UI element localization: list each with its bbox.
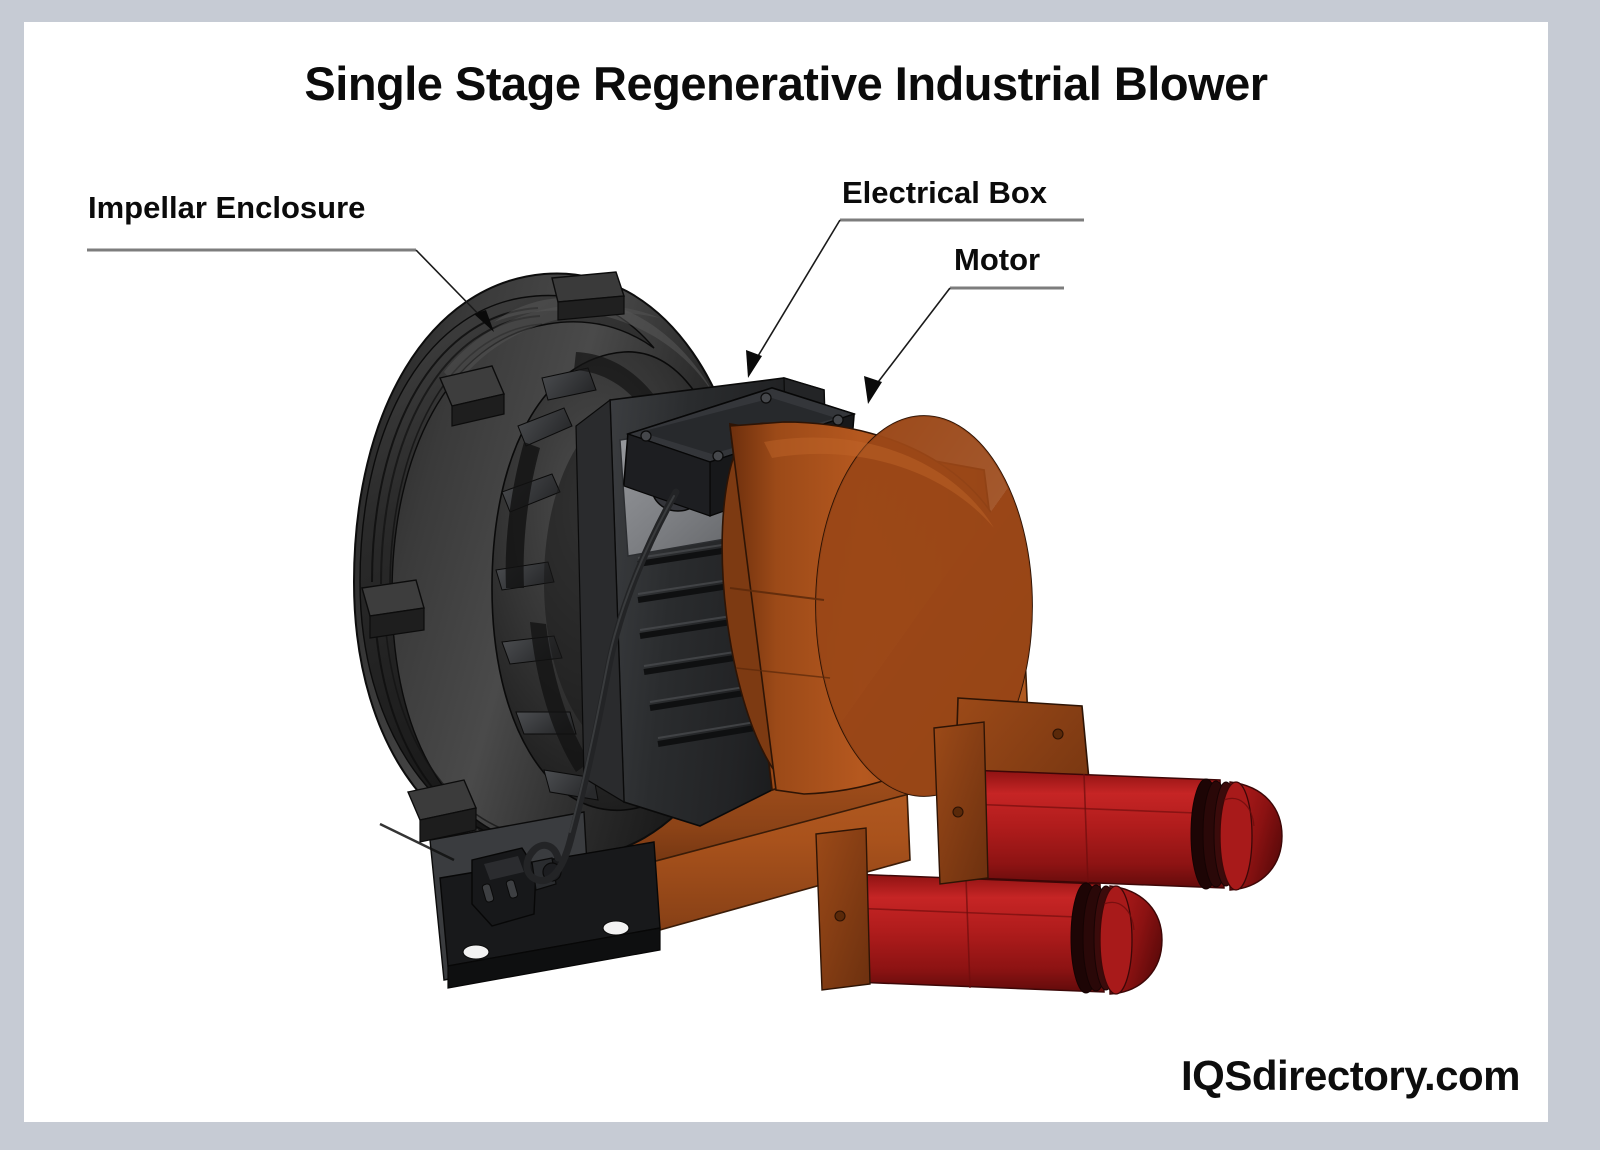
blower-illustration (24, 22, 1548, 1122)
figure-panel: Single Stage Regenerative Industrial Blo… (24, 22, 1548, 1122)
pipe-flange (816, 828, 870, 990)
callout-label-impeller-enclosure: Impellar Enclosure (88, 192, 365, 225)
image-frame: Single Stage Regenerative Industrial Blo… (0, 0, 1600, 1150)
source-watermark: IQSdirectory.com (1181, 1052, 1520, 1100)
outlet-pipe (836, 874, 1162, 994)
enclosure-tab (552, 272, 624, 320)
callout-label-electrical-box: Electrical Box (842, 177, 1047, 210)
callout-label-motor: Motor (954, 244, 1040, 277)
inlet-pipe (954, 770, 1282, 890)
enclosure-tab (408, 780, 476, 842)
enclosure-tab (362, 580, 424, 638)
pipe-flange (934, 722, 988, 884)
